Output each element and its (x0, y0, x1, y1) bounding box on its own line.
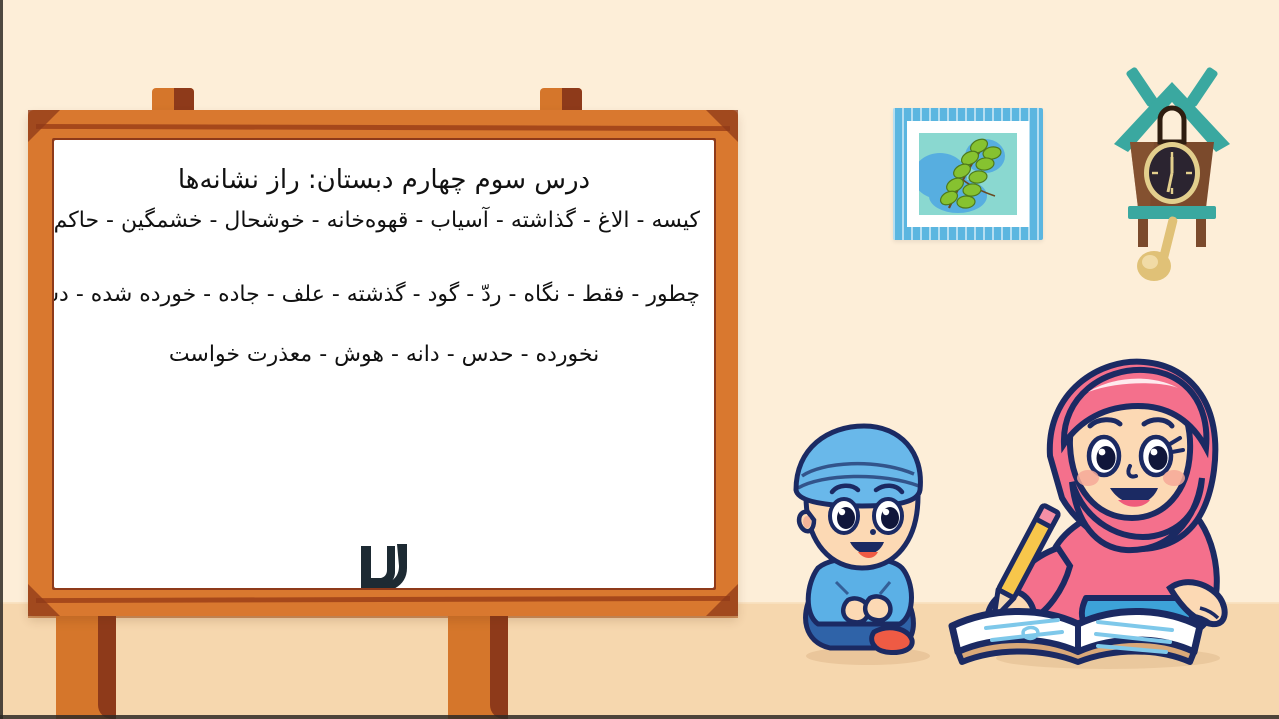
frame-grain-bottom (36, 596, 730, 603)
leaf-sprig-icon (923, 134, 1017, 215)
whiteboard-surface[interactable]: درس سوم چهارم دبستان: راز نشانه‌ها کیسه … (54, 140, 714, 588)
board-leg-left (56, 612, 116, 719)
boy-hand-right (865, 596, 890, 620)
cuckoo-clock (1106, 58, 1238, 288)
board-legs (28, 612, 738, 719)
word-list-line-3: نخورده - حدس - دانه - هوش - معذرت خواست (68, 340, 700, 370)
board-text-block: درس سوم چهارم دبستان: راز نشانه‌ها کیسه … (54, 140, 714, 588)
word-list-line-2: چطور - فقط - نگاه - ردّ - گود - گذشته - … (68, 280, 700, 310)
publisher-logo-mark (353, 538, 415, 588)
canvas-edge-bottom (0, 715, 1279, 719)
wall-picture-frame (893, 108, 1043, 240)
word-list-line-1: کیسه - الاغ - گذاشته - آسیاب - قهوه‌خانه… (68, 206, 700, 236)
publisher-logo: همگامان دانش (324, 538, 444, 588)
lesson-title: درس سوم چهارم دبستان: راز نشانه‌ها (54, 164, 714, 197)
character-boy (778, 418, 943, 668)
frame-grain-top (36, 124, 730, 131)
canvas-edge-left (0, 0, 3, 719)
cuckoo-door (1160, 108, 1184, 142)
whiteboard[interactable]: درس سوم چهارم دبستان: راز نشانه‌ها کیسه … (28, 110, 738, 616)
boy-shoe (872, 628, 913, 653)
board-leg-right (448, 612, 508, 719)
character-girl (938, 352, 1228, 672)
slide-canvas: درس سوم چهارم دبستان: راز نشانه‌ها کیسه … (0, 0, 1279, 719)
picture-artwork (919, 133, 1017, 215)
